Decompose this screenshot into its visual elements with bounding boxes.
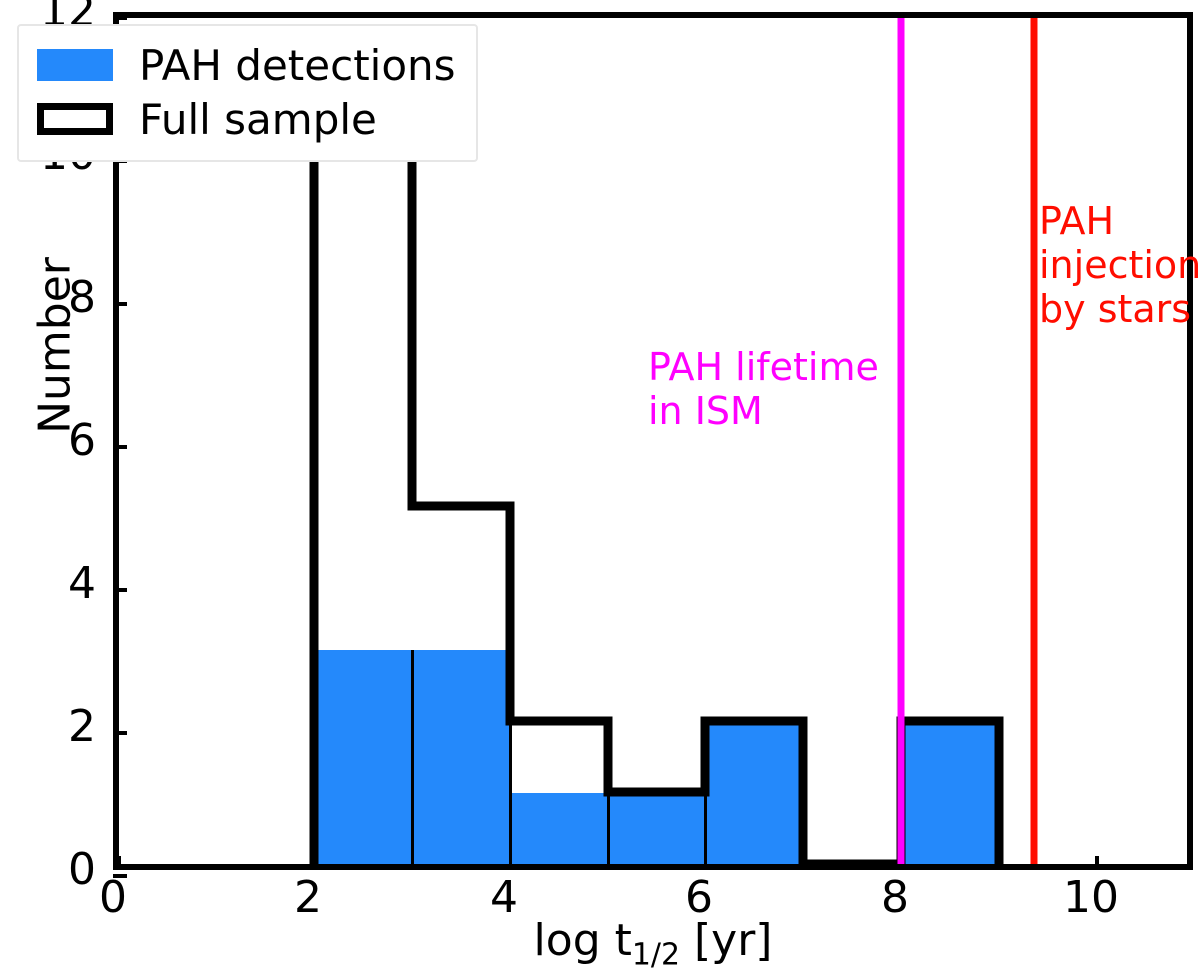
x-axis-label-post: [yr] [680, 915, 772, 966]
bar-separator-4 [509, 650, 512, 865]
legend-label-full-sample: Full sample [139, 95, 377, 144]
bar-pah-2-3 [314, 650, 412, 865]
legend-swatch-filled-icon [37, 49, 113, 81]
bar-pah-8-9 [901, 721, 999, 864]
bar-separator-5 [607, 793, 610, 865]
legend-entry-full-sample[interactable]: Full sample [37, 92, 456, 146]
bar-pah-5-6 [608, 793, 705, 865]
x-tick-label-8: 8 [881, 876, 909, 920]
y-tick-label-4: 4 [0, 562, 96, 606]
x-tick-label-6: 6 [685, 876, 713, 920]
y-tick-label-2: 2 [0, 705, 96, 749]
legend[interactable]: PAH detections Full sample [17, 24, 478, 162]
x-axis-label-subscript: 1/2 [632, 938, 680, 973]
x-tick-label-4: 4 [490, 876, 518, 920]
x-axis-label-pre: log t [534, 915, 632, 966]
vline-pah-injection-by-stars [1031, 18, 1038, 864]
legend-entry-pah-detections[interactable]: PAH detections [37, 38, 456, 92]
pah-injection-annotation: PAH injection by stars [1039, 199, 1200, 331]
pah-lifetime-annotation: PAH lifetime in ISM [648, 345, 879, 433]
histogram-figure: Number 12 10 8 6 4 2 0 0 2 4 6 8 10 log … [0, 0, 1200, 973]
x-axis-label: log t1/2 [yr] [113, 915, 1193, 973]
bar-pah-6-7 [705, 721, 803, 864]
y-tick-mark-0 [113, 874, 127, 878]
x-tick-label-10: 10 [1063, 876, 1119, 920]
bar-pah-4-5 [510, 793, 608, 865]
legend-swatch-outline-icon [37, 103, 113, 135]
bar-separator-3 [411, 650, 414, 865]
legend-label-pah-detections: PAH detections [139, 41, 456, 90]
x-tick-label-2: 2 [294, 876, 322, 920]
bar-separator-6 [704, 721, 707, 864]
vline-pah-lifetime-ism [898, 18, 905, 864]
y-tick-label-0: 0 [0, 848, 96, 892]
y-tick-label-8: 8 [0, 276, 96, 320]
bar-pah-3-4 [412, 650, 510, 865]
y-tick-label-6: 6 [0, 419, 96, 463]
x-tick-label-0: 0 [99, 876, 127, 920]
